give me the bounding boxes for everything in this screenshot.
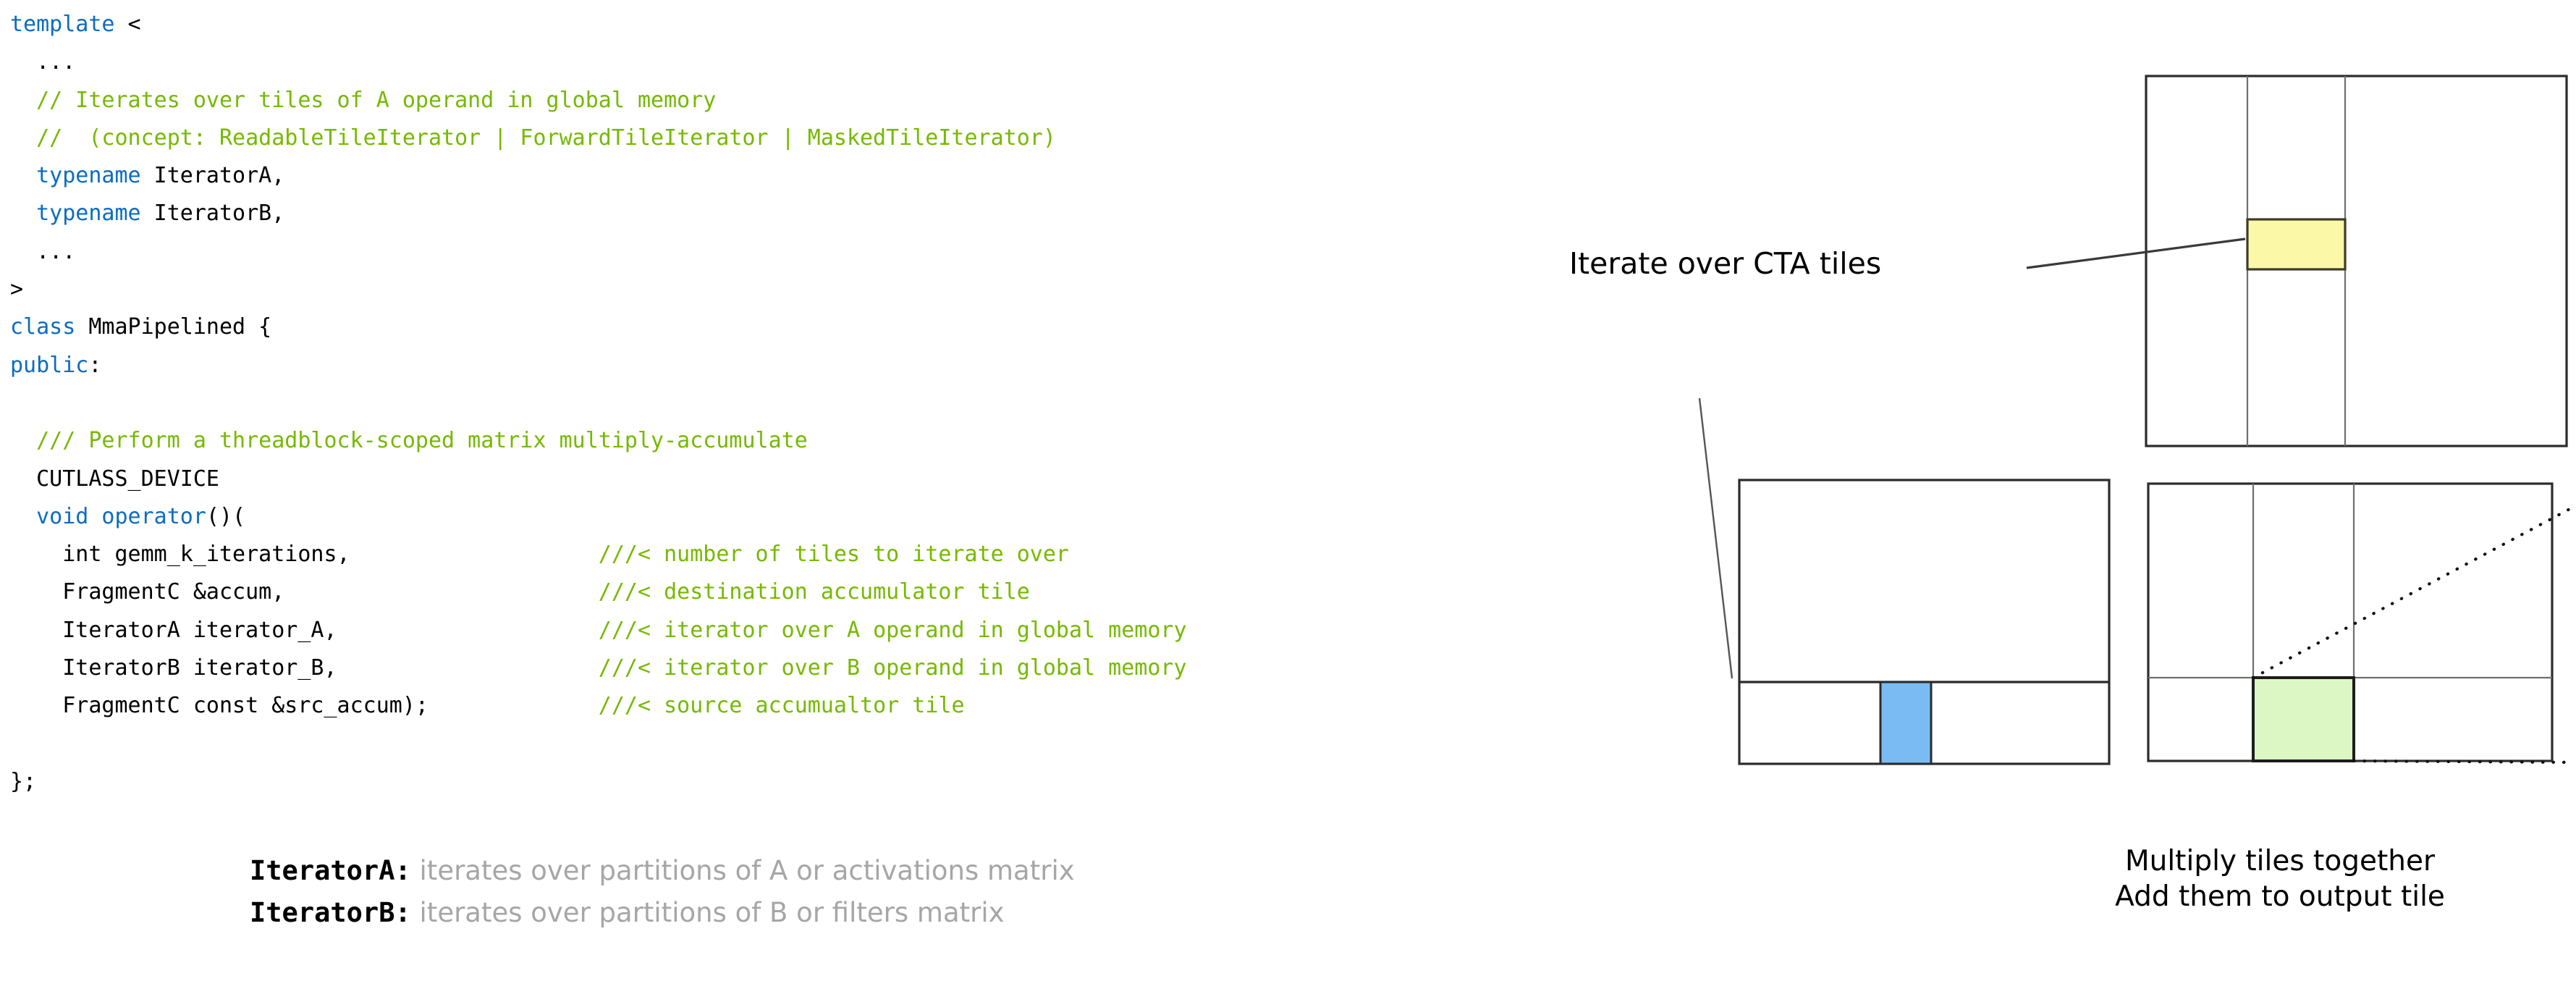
code-token: FragmentC &accum,: [10, 579, 284, 605]
code-doc-comment: ///< destination accumulator tile: [599, 579, 1030, 605]
legend-iterator-description: iterates over partitions of A or activat…: [411, 855, 1075, 886]
code-token: IteratorA iterator_A,: [10, 618, 337, 643]
a-highlight-band: [1739, 682, 2109, 764]
code-comment-pad: [284, 573, 598, 611]
code-line: /// Perform a threadblock-scoped matrix …: [10, 422, 1675, 460]
a-matrix-outline: [1739, 480, 2109, 764]
code-token: :: [88, 353, 101, 378]
code-comment-pad: [337, 649, 599, 687]
leader-line-to-a-tile: [1699, 398, 1732, 678]
leader-line-to-b-tile: [2027, 239, 2245, 268]
code-token: class: [10, 314, 75, 340]
code-token: <: [115, 12, 141, 37]
matrix-a-operand: [1739, 480, 2109, 764]
code-token: public: [10, 353, 88, 378]
code-token: CUTLASS_DEVICE: [10, 466, 219, 492]
code-doc-comment: ///< number of tiles to iterate over: [599, 542, 1069, 567]
matrix-c-output: [2148, 484, 2574, 762]
code-line: ...: [10, 43, 1675, 81]
code-token: /// Perform a threadblock-scoped matrix …: [10, 428, 808, 453]
code-line: // Iterates over tiles of A operand in g…: [10, 82, 1675, 119]
code-token: ()(: [206, 504, 245, 529]
code-token: [10, 163, 36, 188]
b-active-tile: [2247, 219, 2345, 269]
code-token: IteratorB,: [141, 201, 285, 226]
c-diagonal-dotted: [2253, 507, 2574, 678]
code-token: [10, 201, 36, 226]
callout-multiply-line-2: Add them to output tile: [1998, 879, 2562, 914]
code-token: >: [10, 277, 23, 302]
code-token: // (concept: ReadableTileIterator | Forw…: [10, 125, 1056, 151]
code-line: int gemm_k_iterations, ///< number of ti…: [10, 536, 1675, 573]
code-token: template: [10, 12, 115, 37]
callout-multiply-add: Multiply tiles together Add them to outp…: [1998, 843, 2562, 914]
code-token: ...: [10, 239, 75, 264]
code-line: IteratorB iterator_B, ///< iterator over…: [10, 649, 1675, 687]
code-line: };: [10, 763, 1675, 801]
c-output-tile: [2253, 678, 2354, 761]
legend-row: IteratorA: iterates over partitions of A…: [250, 850, 1625, 892]
matrix-b-operand: [2146, 76, 2567, 446]
code-comment-pad: [337, 612, 599, 649]
b-highlight-band: [2247, 76, 2345, 446]
code-token: int gemm_k_iterations,: [10, 542, 350, 567]
legend-row: IteratorB: iterates over partitions of B…: [250, 892, 1625, 934]
code-comment-pad: [428, 687, 599, 725]
code-line: public:: [10, 347, 1675, 384]
code-token: [10, 504, 36, 529]
code-token: MmaPipelined {: [75, 314, 271, 340]
code-line: [10, 384, 1675, 422]
code-line: class MmaPipelined {: [10, 308, 1675, 346]
code-line: typename IteratorB,: [10, 195, 1675, 232]
code-line: IteratorA iterator_A, ///< iterator over…: [10, 612, 1675, 649]
code-token: typename: [36, 201, 141, 226]
legend-iterator-name: IteratorB:: [250, 897, 411, 928]
code-line: template <: [10, 6, 1675, 43]
legend-iterator-description: iterates over partitions of B or filters…: [411, 897, 1005, 928]
code-token: ...: [10, 49, 75, 75]
code-token: // Iterates over tiles of A operand in g…: [10, 88, 716, 113]
callout-multiply-line-1: Multiply tiles together: [1998, 843, 2562, 879]
code-line: CUTLASS_DEVICE: [10, 460, 1675, 498]
code-line: ...: [10, 233, 1675, 271]
b-matrix-outline: [2146, 76, 2567, 446]
code-token: FragmentC const &src_accum);: [10, 693, 428, 718]
c-matrix-outline: [2148, 484, 2552, 761]
code-doc-comment: ///< source accumualtor tile: [599, 693, 965, 718]
code-line: void operator()(: [10, 498, 1675, 536]
code-line: [10, 725, 1675, 763]
a-active-tile: [1880, 682, 1931, 764]
code-line: FragmentC &accum, ///< destination accum…: [10, 573, 1675, 611]
code-line: typename IteratorA,: [10, 157, 1675, 195]
code-token: IteratorA,: [141, 163, 285, 188]
code-line: // (concept: ReadableTileIterator | Forw…: [10, 119, 1675, 157]
code-doc-comment: ///< iterator over B operand in global m…: [599, 655, 1187, 681]
code-token: };: [10, 769, 36, 794]
code-token: typename: [36, 163, 141, 188]
legend-iterator-name: IteratorA:: [250, 855, 411, 886]
code-listing: template < ... // Iterates over tiles of…: [10, 6, 1675, 801]
iterator-legend: IteratorA: iterates over partitions of A…: [250, 850, 1625, 934]
code-line: FragmentC const &src_accum); ///< source…: [10, 687, 1675, 725]
code-token: void operator: [36, 504, 206, 529]
code-token: IteratorB iterator_B,: [10, 655, 337, 681]
code-doc-comment: ///< iterator over A operand in global m…: [599, 618, 1187, 643]
c-baseline-dotted: [2354, 761, 2574, 762]
code-comment-pad: [350, 536, 599, 573]
code-line: >: [10, 271, 1675, 308]
